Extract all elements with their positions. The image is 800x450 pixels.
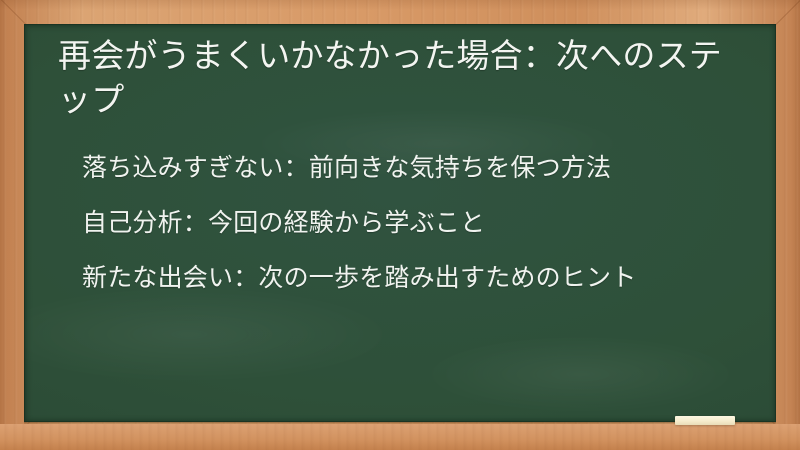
list-item: 落ち込みすぎない：前向きな気持ちを保つ方法 (82, 152, 742, 185)
slide-canvas: 再会がうまくいかなかった場合：次へのステップ 落ち込みすぎない：前向きな気持ちを… (0, 0, 800, 450)
chalk-stick-icon (675, 416, 735, 425)
bullet-list: 落ち込みすぎない：前向きな気持ちを保つ方法 自己分析：今回の経験から学ぶこと 新… (58, 152, 742, 296)
list-item: 自己分析：今回の経験から学ぶこと (82, 207, 742, 240)
list-item: 新たな出会い：次の一歩を踏み出すためのヒント (82, 262, 742, 295)
board-ledge-shadow (24, 422, 776, 424)
page-title: 再会がうまくいかなかった場合：次へのステップ (58, 34, 742, 122)
slide-content: 再会がうまくいかなかった場合：次へのステップ 落ち込みすぎない：前向きな気持ちを… (24, 24, 776, 422)
chalkboard: 再会がうまくいかなかった場合：次へのステップ 落ち込みすぎない：前向きな気持ちを… (24, 24, 776, 422)
